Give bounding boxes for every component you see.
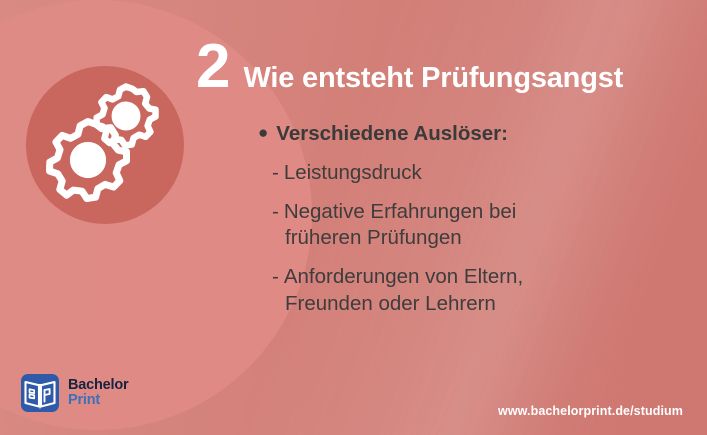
- list-item-label: Anforderungen von Eltern,: [284, 265, 523, 288]
- slide-header: 2 Wie entsteht Prüfungsangst: [196, 36, 623, 98]
- content-list: ● Verschiedene Auslöser: -Leistungsdruck…: [258, 122, 678, 330]
- slide-canvas: 2 Wie entsteht Prüfungsangst ● Verschied…: [0, 0, 707, 435]
- list-lead-label: Verschiedene Auslöser:: [276, 122, 508, 147]
- dash-icon: -: [272, 200, 279, 223]
- list-item: -Anforderungen von Eltern, Freunden oder…: [272, 264, 678, 316]
- dash-icon: -: [272, 265, 279, 288]
- list-lead: ● Verschiedene Auslöser:: [258, 122, 678, 147]
- list-item: -Negative Erfahrungen bei früheren Prüfu…: [272, 199, 678, 251]
- step-number: 2: [196, 36, 229, 98]
- list-item: -Leistungsdruck: [272, 160, 678, 186]
- list-item-label-continued: Freunden oder Lehrern: [285, 291, 678, 317]
- website-url[interactable]: www.bachelorprint.de/studium: [498, 404, 683, 418]
- bullet-icon: ●: [258, 122, 268, 144]
- list-item-label: Leistungsdruck: [284, 161, 422, 184]
- brand-name-line2: Print: [68, 393, 128, 408]
- list-item-label-continued: früheren Prüfungen: [285, 225, 678, 251]
- list-item-label: Negative Erfahrungen bei: [284, 200, 517, 223]
- bachelorprint-book-logo-icon: [20, 373, 60, 413]
- brand-name-line1: Bachelor: [68, 378, 128, 393]
- dash-icon: -: [272, 161, 279, 184]
- brand-logo[interactable]: Bachelor Print: [20, 373, 128, 413]
- brand-logo-text: Bachelor Print: [68, 378, 128, 408]
- page-title: Wie entsteht Prüfungsangst: [243, 64, 623, 93]
- gears-icon: [38, 76, 174, 212]
